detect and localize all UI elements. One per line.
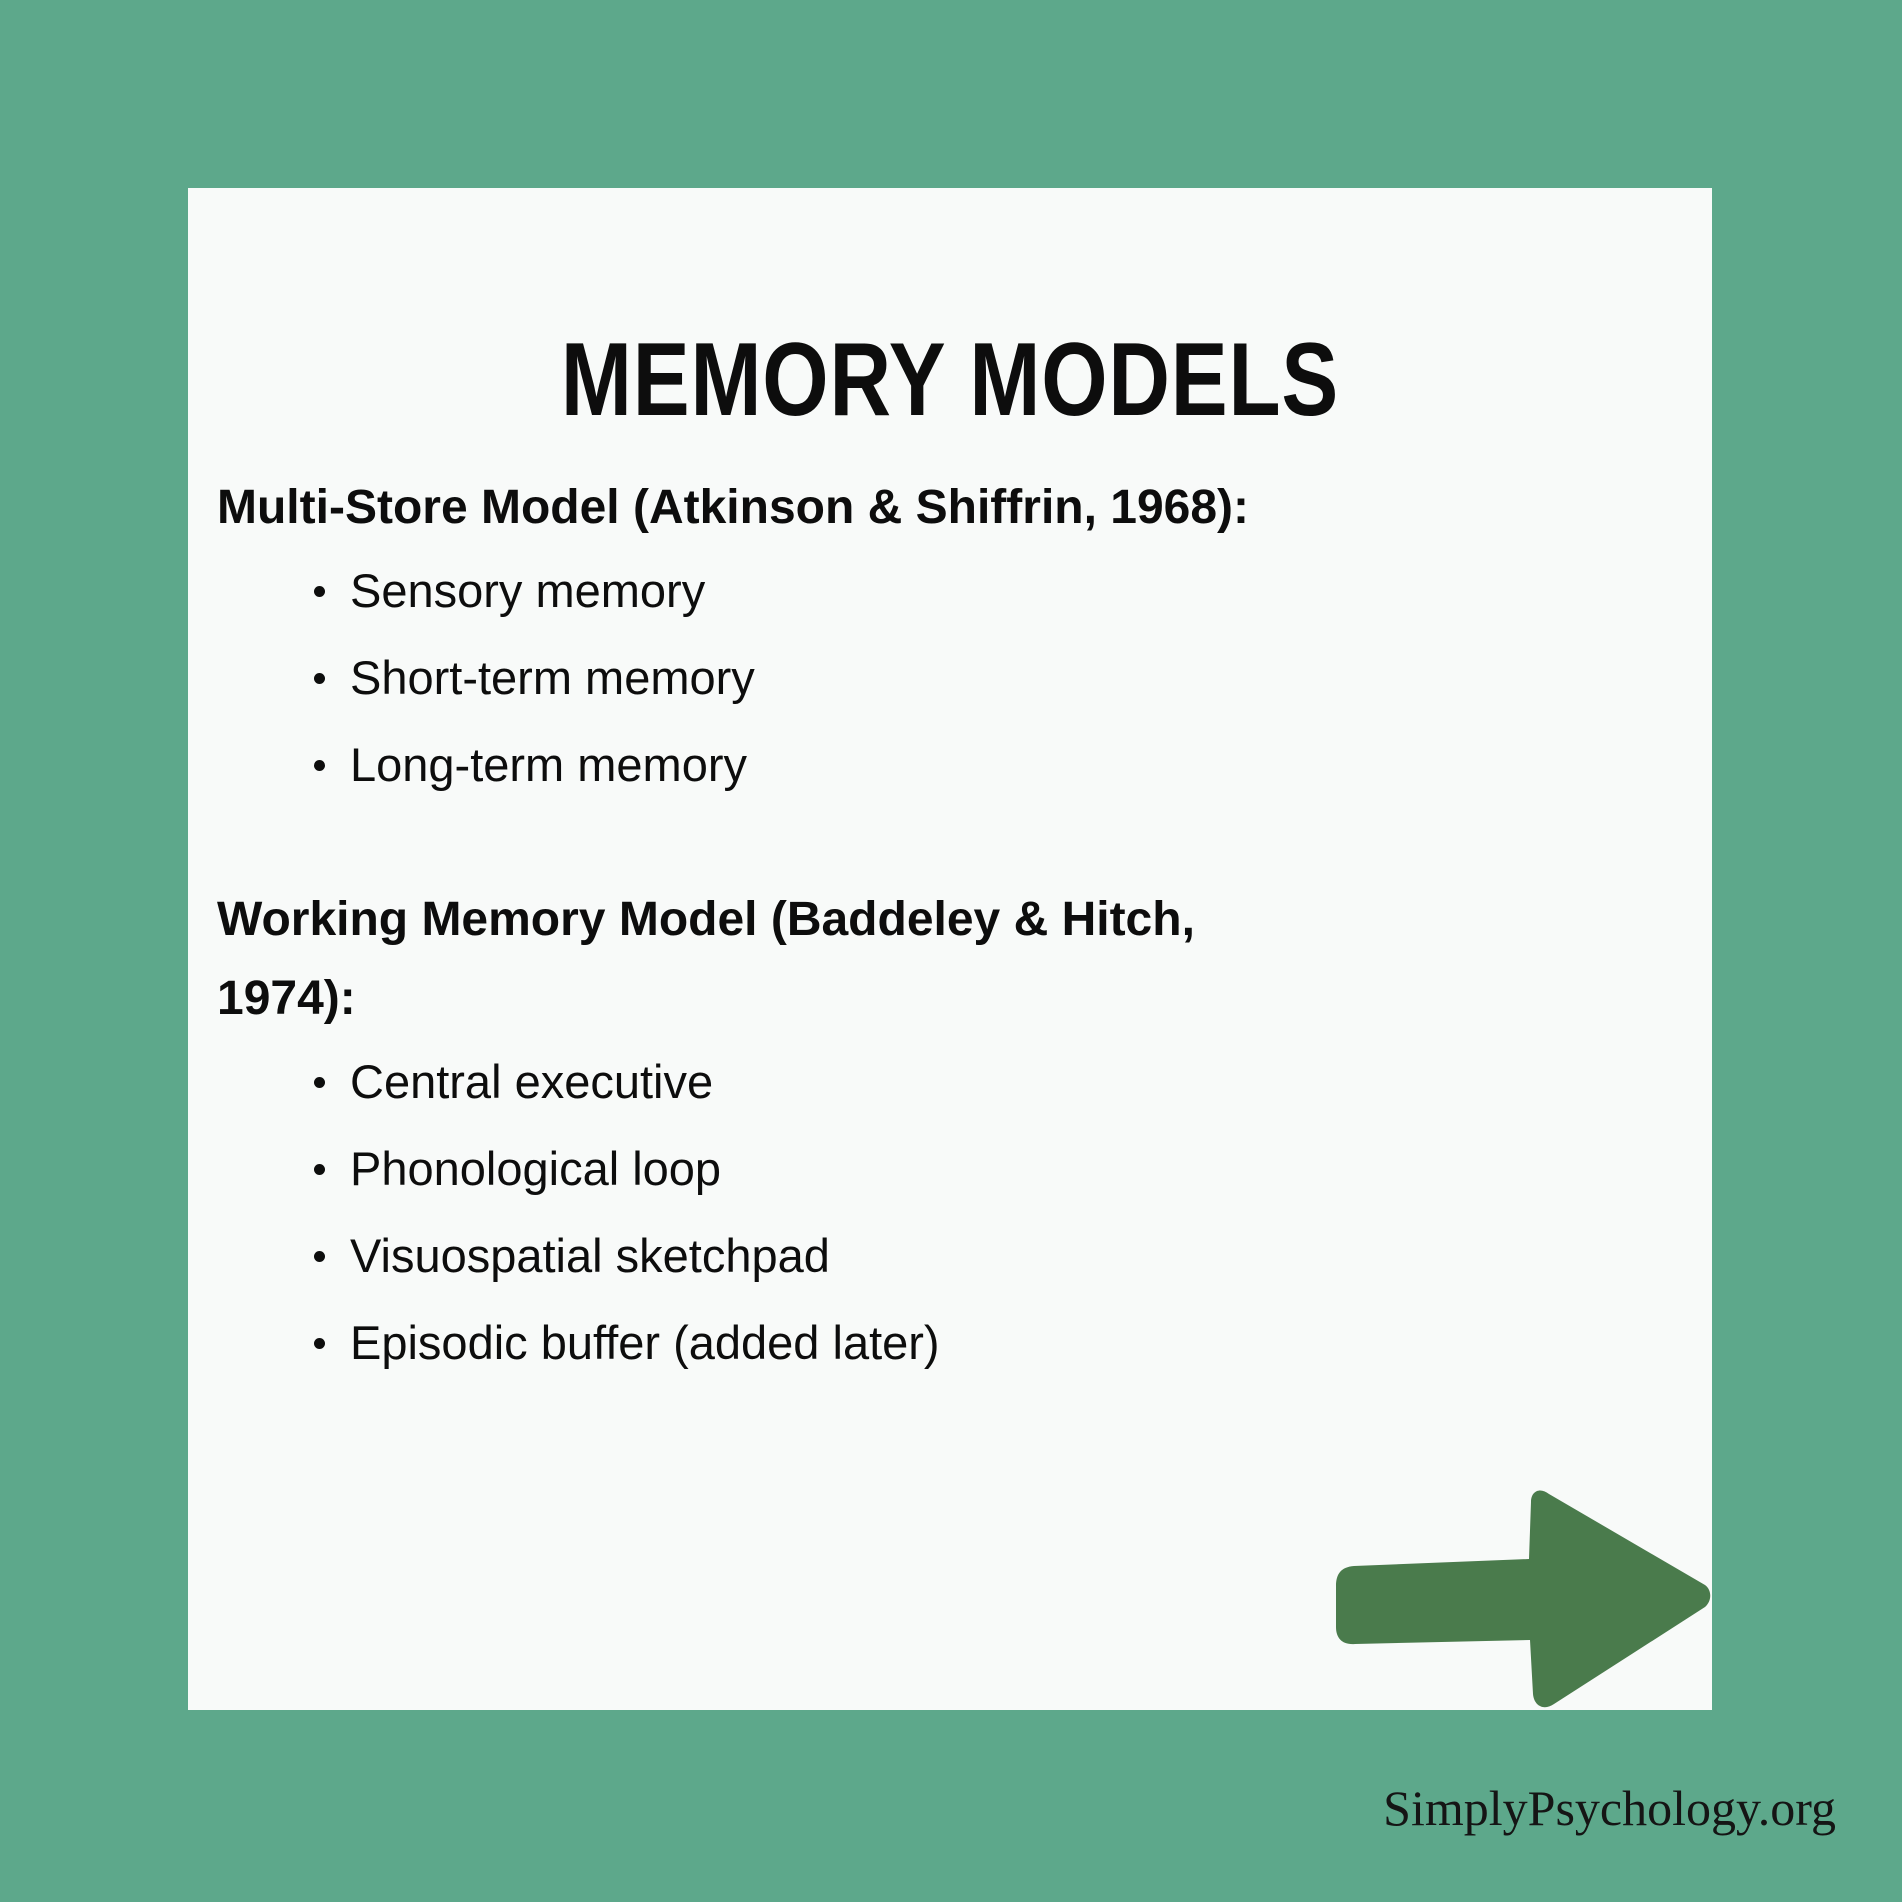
list-item-label: Phonological loop: [350, 1142, 721, 1195]
section-heading: Multi-Store Model (Atkinson & Shiffrin, …: [217, 468, 1307, 547]
bullet-dot-icon: [314, 1338, 325, 1349]
bullet-dot-icon: [314, 1164, 325, 1175]
list-item-label: Short-term memory: [350, 651, 755, 704]
section-heading: Working Memory Model (Baddeley & Hitch, …: [217, 880, 1307, 1038]
list-item: Visuospatial sketchpad: [217, 1212, 1397, 1299]
content-card: MEMORY MODELS Multi-Store Model (Atkinso…: [188, 188, 1712, 1710]
bullet-list: Central executive Phonological loop Visu…: [217, 1038, 1397, 1386]
list-item: Short-term memory: [217, 634, 1397, 721]
body-content: Multi-Store Model (Atkinson & Shiffrin, …: [217, 468, 1397, 1386]
bullet-dot-icon: [314, 586, 325, 597]
list-item: Central executive: [217, 1038, 1397, 1125]
list-item-label: Episodic buffer (added later): [350, 1316, 940, 1369]
list-item-label: Sensory memory: [350, 564, 705, 617]
list-item-label: Central executive: [350, 1055, 713, 1108]
arrow-right-icon: [1328, 1488, 1712, 1710]
bullet-dot-icon: [314, 673, 325, 684]
section-multi-store-model: Multi-Store Model (Atkinson & Shiffrin, …: [217, 468, 1397, 808]
page-title: MEMORY MODELS: [325, 328, 1575, 432]
bullet-dot-icon: [314, 1077, 325, 1088]
bullet-dot-icon: [314, 1251, 325, 1262]
bullet-list: Sensory memory Short-term memory Long-te…: [217, 547, 1397, 808]
site-credit: SimplyPsychology.org: [1383, 1783, 1836, 1833]
section-working-memory-model: Working Memory Model (Baddeley & Hitch, …: [217, 880, 1397, 1386]
slide-canvas: MEMORY MODELS Multi-Store Model (Atkinso…: [0, 0, 1902, 1902]
list-item: Phonological loop: [217, 1125, 1397, 1212]
list-item-label: Long-term memory: [350, 738, 747, 791]
list-item: Long-term memory: [217, 721, 1397, 808]
list-item: Episodic buffer (added later): [217, 1299, 1397, 1386]
list-item-label: Visuospatial sketchpad: [350, 1229, 830, 1282]
bullet-dot-icon: [314, 760, 325, 771]
list-item: Sensory memory: [217, 547, 1397, 634]
